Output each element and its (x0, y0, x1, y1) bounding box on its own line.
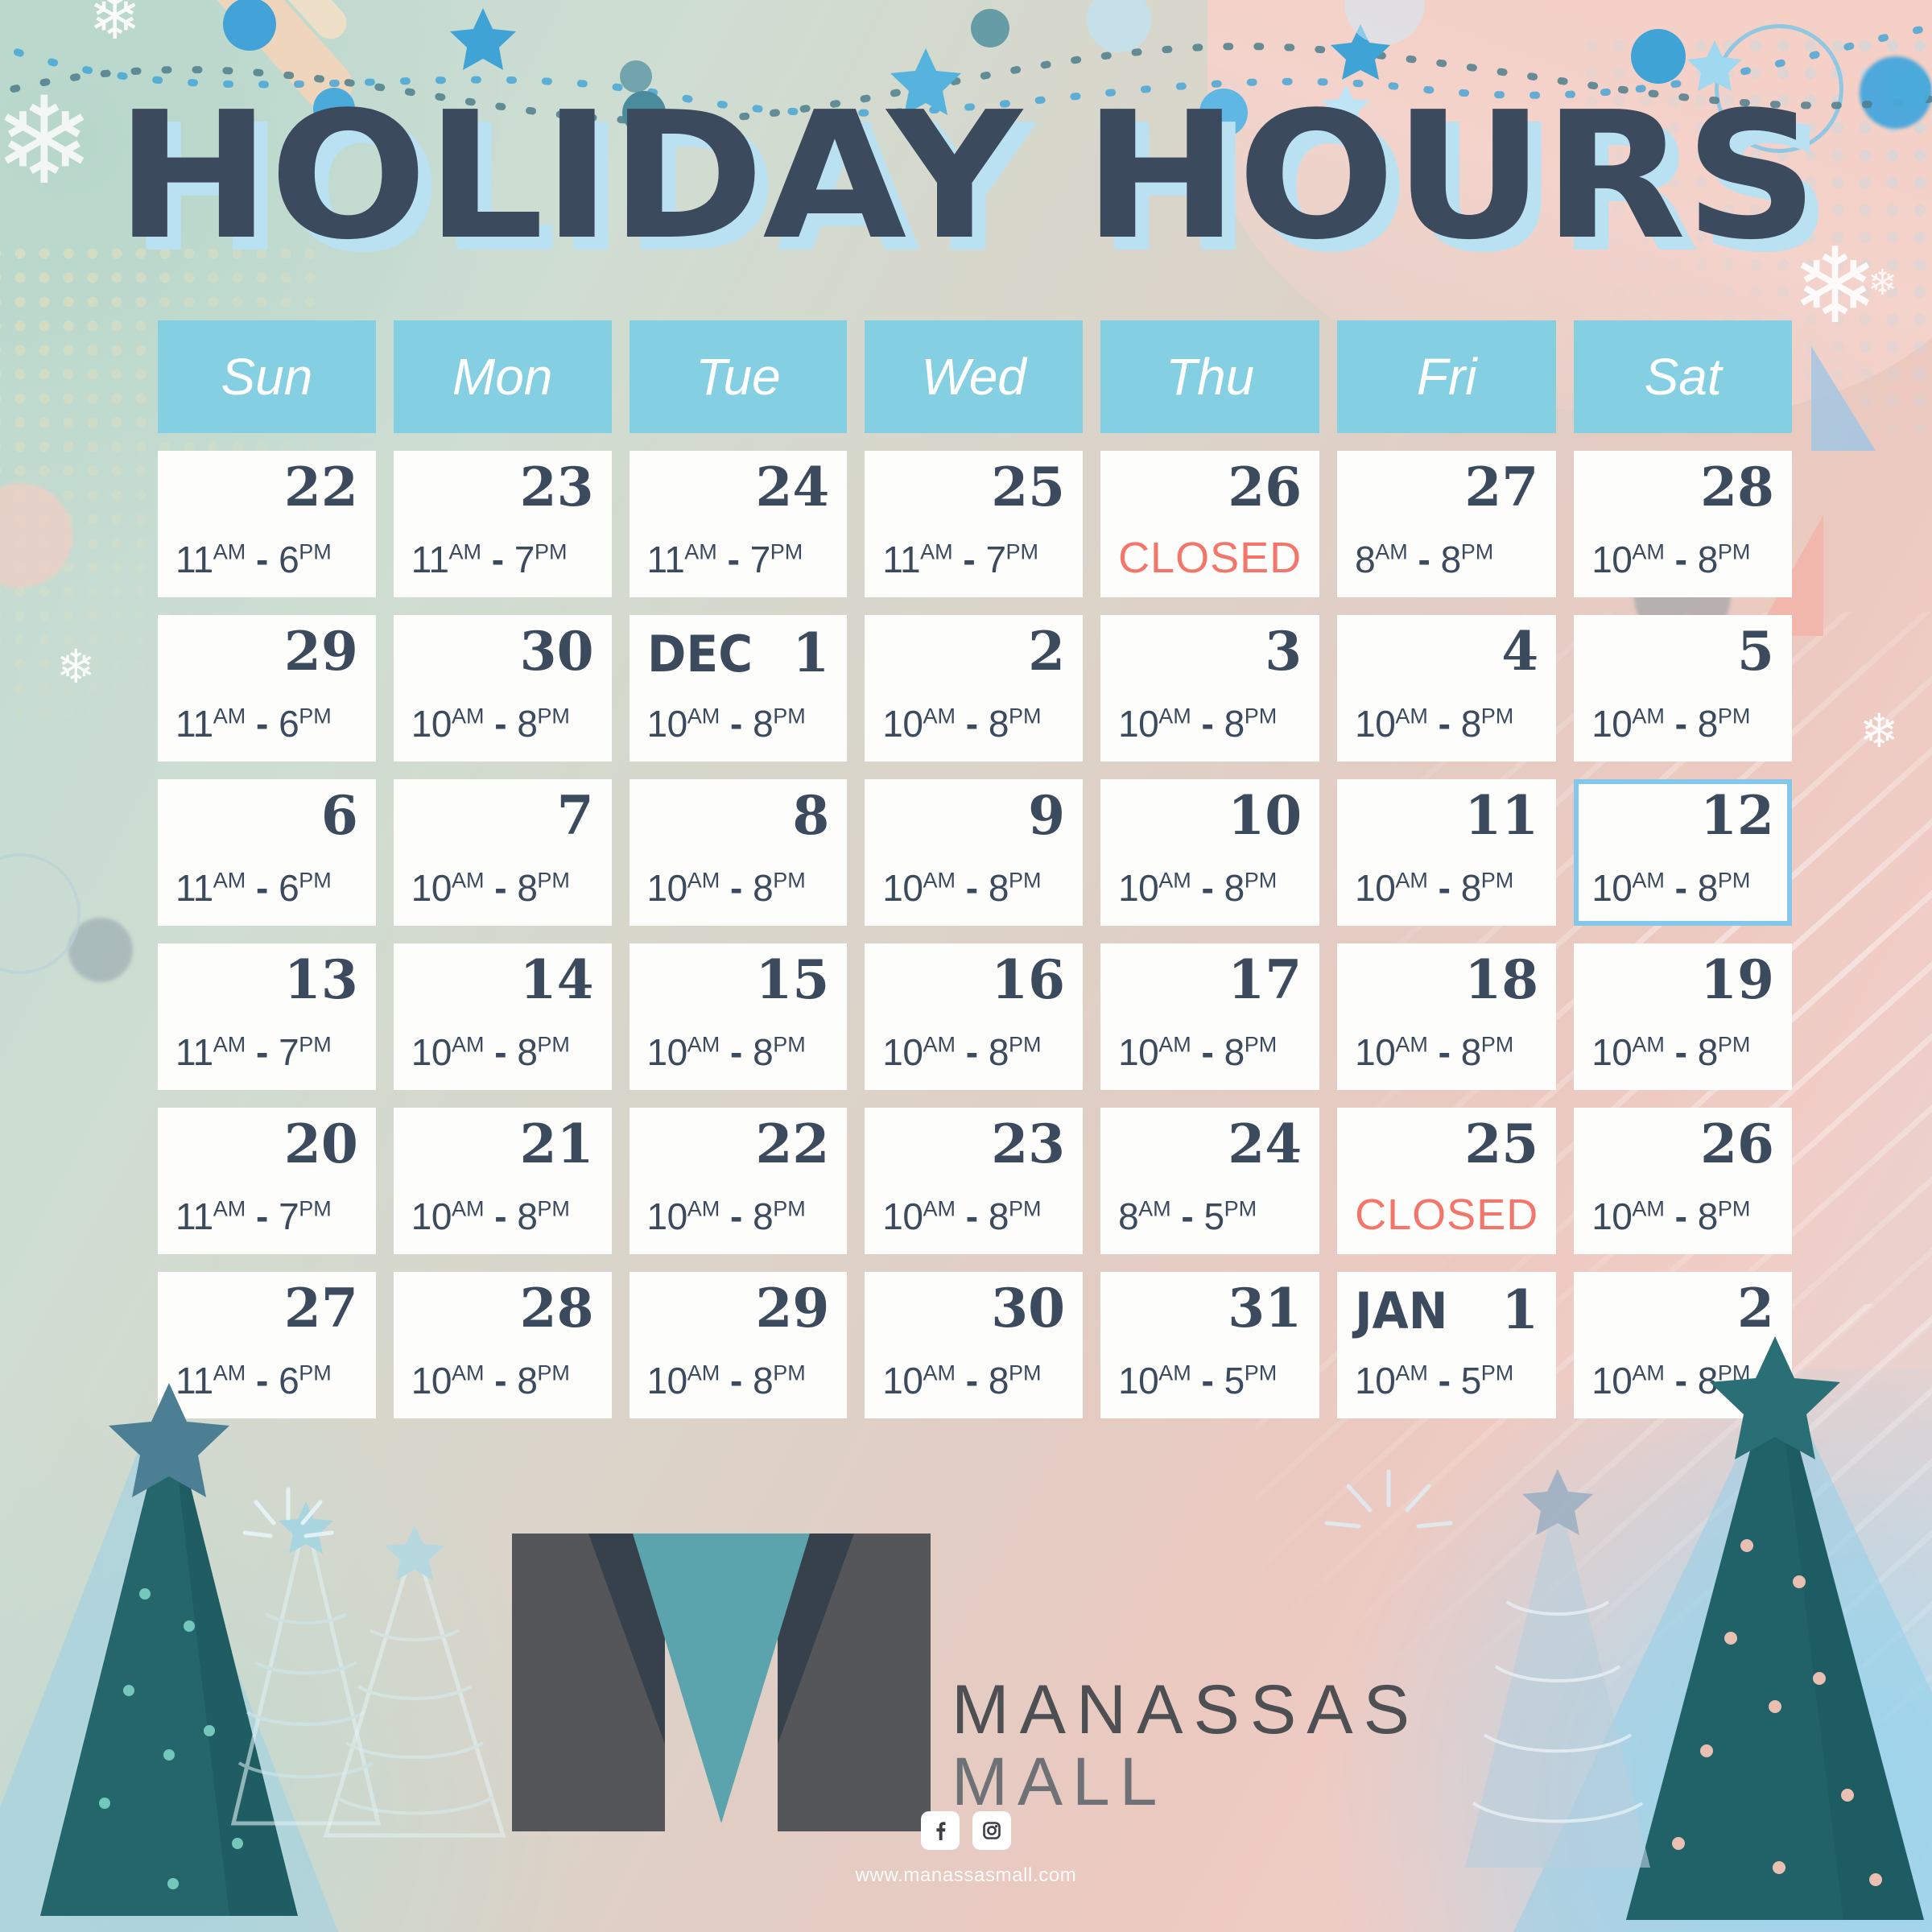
calendar-day-cell[interactable]: 2810AM - 8PM (1574, 451, 1792, 597)
open-meridiem: AM (213, 540, 246, 564)
calendar-cell-header: 21 (411, 1117, 594, 1180)
calendar-day-cell[interactable]: 3010AM - 8PM (865, 1272, 1083, 1418)
close-meridiem: PM (299, 540, 332, 564)
brand-name: MANASSAS (952, 1675, 1420, 1746)
calendar-cell-header: 27 (1355, 460, 1538, 523)
close-meridiem: PM (1245, 869, 1278, 893)
open-meridiem: AM (452, 1197, 485, 1221)
dow-header-wed: Wed (865, 320, 1083, 433)
close-meridiem: PM (1481, 704, 1514, 729)
close-meridiem: PM (1718, 869, 1751, 893)
calendar-cell-header: 30 (411, 625, 594, 687)
open-meridiem: AM (1632, 1197, 1665, 1221)
calendar-cell-header: 18 (1355, 953, 1538, 1016)
store-hours: 10AM - 8PM (882, 1359, 1065, 1407)
store-hours: 10AM - 8PM (411, 866, 594, 914)
calendar-day-cell[interactable]: 2210AM - 8PM (630, 1108, 848, 1254)
time-separator: - (481, 539, 514, 580)
day-number: 12 (1700, 789, 1774, 842)
calendar-cell-header: 28 (411, 1282, 594, 1344)
close-meridiem: PM (773, 1197, 806, 1221)
time-separator: - (956, 1031, 989, 1073)
open-time: 10 (1591, 867, 1632, 909)
time-separator: - (956, 1195, 989, 1237)
day-number: 13 (284, 953, 358, 1006)
close-time: 6 (279, 867, 299, 909)
close-time: 8 (1224, 867, 1245, 909)
store-hours: 10AM - 8PM (647, 1195, 830, 1243)
calendar-day-cell[interactable]: 2110AM - 8PM (394, 1108, 612, 1254)
brand-subname: MALL (952, 1746, 1420, 1817)
close-time: 8 (989, 1195, 1009, 1237)
close-time: 8 (1461, 703, 1481, 745)
day-number: 11 (1464, 789, 1538, 842)
store-hours: 10AM - 8PM (647, 866, 830, 914)
close-time: 8 (753, 1031, 773, 1073)
manassas-mall-m-logo-icon (512, 1534, 931, 1831)
time-separator: - (956, 1360, 989, 1402)
calendar-cell-header: 2 (882, 625, 1065, 687)
store-hours: 10AM - 8PM (882, 1030, 1065, 1079)
open-meridiem: AM (687, 869, 720, 893)
day-number: 31 (1228, 1282, 1302, 1335)
store-hours: 10AM - 8PM (647, 1359, 830, 1407)
store-hours: 10AM - 8PM (411, 1195, 594, 1243)
calendar-day-cell[interactable]: 248AM - 5PM (1100, 1108, 1319, 1254)
calendar-day-cell[interactable]: 2511AM - 7PM (865, 451, 1083, 597)
facebook-icon[interactable] (921, 1811, 960, 1850)
time-separator: - (720, 703, 753, 745)
page-title-container: HOLIDAY HOURS (0, 97, 1932, 258)
calendar-cell-header: 24 (1118, 1117, 1302, 1180)
close-meridiem: PM (1718, 1033, 1751, 1057)
open-time: 11 (411, 539, 449, 580)
time-separator: - (1665, 703, 1698, 745)
time-separator: - (1171, 1195, 1204, 1237)
close-time: 8 (1698, 867, 1718, 909)
calendar-cell-header: DEC1 (647, 625, 830, 687)
close-time: 6 (279, 703, 299, 745)
day-number: 9 (1028, 789, 1065, 842)
open-meridiem: AM (923, 1361, 956, 1385)
open-time: 10 (882, 1360, 923, 1402)
calendar-cell-header: 10 (1118, 789, 1302, 852)
close-meridiem: PM (535, 540, 568, 564)
close-time: 8 (1698, 1031, 1718, 1073)
close-time: 8 (1441, 539, 1461, 580)
close-meridiem: PM (773, 869, 806, 893)
open-time: 11 (647, 539, 685, 580)
calendar-day-cell[interactable]: 1710AM - 8PM (1100, 943, 1319, 1090)
open-meridiem: AM (1395, 704, 1428, 729)
open-time: 10 (882, 867, 923, 909)
day-number: 10 (1228, 789, 1302, 842)
close-meridiem: PM (1009, 1033, 1042, 1057)
day-number: 19 (1700, 953, 1774, 1006)
close-meridiem: PM (537, 1197, 570, 1221)
time-separator: - (720, 1031, 753, 1073)
store-hours: 11AM - 6PM (175, 866, 358, 914)
store-hours: 10AM - 8PM (1118, 702, 1302, 750)
open-time: 11 (175, 1195, 213, 1237)
close-time: 8 (753, 1360, 773, 1402)
store-hours: 11AM - 7PM (175, 1030, 358, 1079)
open-meridiem: AM (213, 869, 246, 893)
store-hours: 10AM - 8PM (647, 702, 830, 750)
store-hours: 10AM - 8PM (411, 1359, 594, 1407)
time-separator: - (1665, 1195, 1698, 1237)
time-separator: - (246, 1195, 279, 1237)
store-hours: 10AM - 8PM (1591, 1195, 1774, 1243)
close-meridiem: PM (773, 1361, 806, 1385)
calendar-cell-header: 15 (647, 953, 830, 1016)
open-time: 8 (1355, 539, 1375, 580)
time-separator: - (956, 703, 989, 745)
close-meridiem: PM (1009, 704, 1042, 729)
close-time: 8 (517, 1195, 537, 1237)
open-meridiem: AM (1375, 540, 1408, 564)
snowflake-icon: ❄ (1860, 708, 1899, 755)
calendar-day-cell[interactable]: JAN110AM - 5PM (1337, 1272, 1556, 1418)
day-number: 1 (1501, 1283, 1538, 1336)
close-time: 7 (750, 539, 770, 580)
open-time: 10 (411, 867, 452, 909)
close-meridiem: PM (773, 1033, 806, 1057)
calendar-cell-header: 26 (1591, 1117, 1774, 1180)
calendar-cell-header: 4 (1355, 625, 1538, 687)
open-time: 10 (411, 1360, 452, 1402)
instagram-icon[interactable] (972, 1811, 1011, 1850)
calendar-cell-header: 29 (175, 625, 358, 687)
calendar-cell-header: 12 (1591, 789, 1774, 852)
store-hours: 10AM - 8PM (1118, 866, 1302, 914)
store-hours: 10AM - 8PM (1355, 702, 1538, 750)
calendar-cell-header: 13 (175, 953, 358, 1016)
day-number: 17 (1228, 953, 1302, 1006)
month-label: DEC (647, 625, 753, 683)
day-number: 22 (284, 460, 358, 514)
calendar-cell-header: 25 (882, 460, 1065, 523)
store-hours: 10AM - 8PM (1355, 1030, 1538, 1079)
calendar-day-cell[interactable]: 2310AM - 8PM (865, 1108, 1083, 1254)
open-meridiem: AM (213, 1033, 246, 1057)
close-meridiem: PM (1009, 869, 1042, 893)
time-separator: - (246, 867, 279, 909)
snowflake-icon: ❄ (1868, 266, 1897, 301)
open-time: 10 (1591, 539, 1632, 580)
calendar-day-cell[interactable]: 2011AM - 7PM (158, 1108, 376, 1254)
close-time: 8 (753, 867, 773, 909)
open-time: 10 (647, 1360, 687, 1402)
close-time: 8 (1698, 703, 1718, 745)
calendar-day-cell[interactable]: 1110AM - 8PM (1337, 779, 1556, 926)
close-meridiem: PM (299, 869, 332, 893)
day-number: 25 (1464, 1117, 1538, 1170)
dow-header-sun: Sun (158, 320, 376, 433)
open-meridiem: AM (1158, 704, 1191, 729)
day-number: 27 (1464, 460, 1538, 514)
store-hours: 10AM - 8PM (1118, 1030, 1302, 1079)
close-meridiem: PM (1224, 1197, 1257, 1221)
close-meridiem: PM (1481, 1033, 1514, 1057)
time-separator: - (956, 867, 989, 909)
close-time: 8 (517, 867, 537, 909)
close-time: 8 (1698, 1195, 1718, 1237)
calendar-day-cell[interactable]: 2411AM - 7PM (630, 451, 848, 597)
day-number: 20 (284, 1117, 358, 1170)
close-time: 7 (985, 539, 1005, 580)
open-time: 10 (1591, 703, 1632, 745)
calendar-day-cell[interactable]: 910AM - 8PM (865, 779, 1083, 926)
close-time: 8 (1461, 1031, 1481, 1073)
close-time: 8 (989, 703, 1009, 745)
calendar-day-cell[interactable]: 3010AM - 8PM (394, 615, 612, 762)
close-time: 8 (989, 867, 1009, 909)
open-time: 10 (411, 1031, 452, 1073)
dow-header-sat: Sat (1574, 320, 1792, 433)
close-meridiem: PM (537, 1033, 570, 1057)
time-separator: - (1665, 867, 1698, 909)
close-meridiem: PM (1245, 1033, 1278, 1057)
calendar-cell-header: 11 (1355, 789, 1538, 852)
calendar-day-cell[interactable]: 611AM - 6PM (158, 779, 376, 926)
holiday-hours-poster: ❄ ❄ ❄ ❄ ❄ ❄ ❄ HOLIDAY HOURS Sun Mon Tue … (0, 0, 1932, 1932)
close-meridiem: PM (770, 540, 803, 564)
calendar-day-cell[interactable]: 510AM - 8PM (1574, 615, 1792, 762)
open-time: 11 (175, 703, 213, 745)
time-separator: - (484, 867, 517, 909)
calendar-day-cell[interactable]: 310AM - 8PM (1100, 615, 1319, 762)
store-hours: 11AM - 6PM (175, 702, 358, 750)
calendar-day-cell[interactable]: 2911AM - 6PM (158, 615, 376, 762)
calendar-day-cell[interactable]: 3110AM - 5PM (1100, 1272, 1319, 1418)
day-number: 22 (755, 1117, 829, 1170)
calendar-day-cell[interactable]: 2211AM - 6PM (158, 451, 376, 597)
calendar-day-cell[interactable]: 1610AM - 8PM (865, 943, 1083, 1090)
open-time: 10 (411, 703, 452, 745)
day-number: 23 (520, 460, 594, 514)
calendar-day-cell[interactable]: 810AM - 8PM (630, 779, 848, 926)
time-separator: - (720, 867, 753, 909)
close-meridiem: PM (1718, 540, 1751, 564)
day-number: 14 (520, 953, 594, 1006)
close-meridiem: PM (1718, 704, 1751, 729)
calendar-day-cell[interactable]: 1510AM - 8PM (630, 943, 848, 1090)
calendar-cell-header: 23 (882, 1117, 1065, 1180)
calendar-cell-header: 14 (411, 953, 594, 1016)
calendar-cell-header: 24 (647, 460, 830, 523)
calendar-cell-header: JAN1 (1355, 1282, 1538, 1344)
open-time: 8 (1118, 1195, 1138, 1237)
calendar-cell-header: 16 (882, 953, 1065, 1016)
calendar-cell-header: 31 (1118, 1282, 1302, 1344)
close-meridiem: PM (1245, 1361, 1278, 1385)
calendar-cell-header: 17 (1118, 953, 1302, 1016)
open-time: 11 (175, 867, 213, 909)
time-separator: - (484, 1031, 517, 1073)
close-time: 5 (1224, 1360, 1245, 1402)
open-meridiem: AM (923, 704, 956, 729)
open-meridiem: AM (452, 704, 485, 729)
open-time: 10 (1118, 867, 1158, 909)
close-meridiem: PM (299, 1033, 332, 1057)
close-time: 7 (279, 1031, 299, 1073)
time-separator: - (1191, 1031, 1224, 1073)
open-meridiem: AM (923, 869, 956, 893)
day-number: 21 (520, 1117, 594, 1170)
close-time: 8 (753, 703, 773, 745)
time-separator: - (717, 539, 750, 580)
calendar-cell-header: 30 (882, 1282, 1065, 1344)
day-number: 29 (755, 1282, 829, 1335)
calendar-day-cell[interactable]: 278AM - 8PM (1337, 451, 1556, 597)
day-number: 28 (520, 1282, 594, 1335)
open-time: 10 (1591, 1031, 1632, 1073)
day-number: 15 (755, 953, 829, 1006)
open-meridiem: AM (1632, 540, 1665, 564)
day-number: 25 (991, 460, 1065, 514)
calendar-day-cell[interactable]: 25CLOSED (1337, 1108, 1556, 1254)
day-number: 8 (792, 789, 829, 842)
open-meridiem: AM (452, 1361, 485, 1385)
calendar-day-cell[interactable]: 1910AM - 8PM (1574, 943, 1792, 1090)
calendar-day-cell[interactable]: 1410AM - 8PM (394, 943, 612, 1090)
time-separator: - (484, 1195, 517, 1237)
calendar-day-cell[interactable]: 2610AM - 8PM (1574, 1108, 1792, 1254)
close-meridiem: PM (299, 1197, 332, 1221)
calendar-cell-header: 7 (411, 789, 594, 852)
calendar-day-cell[interactable]: 1810AM - 8PM (1337, 943, 1556, 1090)
close-time: 6 (279, 539, 299, 580)
open-time: 10 (1118, 1360, 1158, 1402)
store-hours: 10AM - 8PM (882, 866, 1065, 914)
day-number: 18 (1464, 953, 1538, 1006)
time-separator: - (1665, 1031, 1698, 1073)
close-time: 8 (517, 1031, 537, 1073)
dow-header-tue: Tue (630, 320, 848, 433)
time-separator: - (1665, 539, 1698, 580)
calendar-cell-header: 28 (1591, 460, 1774, 523)
snowflake-icon: ❄ (56, 644, 96, 691)
close-meridiem: PM (537, 869, 570, 893)
day-number: 30 (520, 625, 594, 678)
day-number: 24 (1228, 1117, 1302, 1170)
calendar-day-cell[interactable]: DEC110AM - 8PM (630, 615, 848, 762)
open-meridiem: AM (923, 1033, 956, 1057)
open-meridiem: AM (1158, 1361, 1191, 1385)
day-number: 1 (792, 626, 829, 679)
calendar-day-cell[interactable]: 710AM - 8PM (394, 779, 612, 926)
close-time: 8 (517, 703, 537, 745)
time-separator: - (1428, 1360, 1461, 1402)
website-url: www.manassasmall.com (0, 1864, 1932, 1887)
calendar-day-cell[interactable]: 2810AM - 8PM (394, 1272, 612, 1418)
calendar-cell-header: 19 (1591, 953, 1774, 1016)
facebook-glyph (930, 1820, 951, 1841)
calendar-day-cell[interactable]: 410AM - 8PM (1337, 615, 1556, 762)
open-meridiem: AM (1632, 869, 1665, 893)
store-hours: 10AM - 8PM (1591, 538, 1774, 586)
day-number: 6 (321, 789, 358, 842)
open-meridiem: AM (449, 540, 482, 564)
store-hours: 10AM - 5PM (1118, 1359, 1302, 1407)
store-hours: 10AM - 8PM (1591, 1030, 1774, 1079)
bg-shard-blue (1811, 346, 1876, 451)
close-time: 5 (1461, 1360, 1481, 1402)
calendar-day-cell[interactable]: 2311AM - 7PM (394, 451, 612, 597)
open-time: 10 (1118, 1031, 1158, 1073)
open-time: 10 (1591, 1195, 1632, 1237)
calendar-cell-header: 8 (647, 789, 830, 852)
open-meridiem: AM (687, 1361, 720, 1385)
close-time: 8 (989, 1031, 1009, 1073)
store-hours: 11AM - 6PM (175, 538, 358, 586)
day-number: 26 (1228, 460, 1302, 514)
time-separator: - (484, 1360, 517, 1402)
close-time: 8 (1224, 703, 1245, 745)
calendar-day-cell[interactable]: 1311AM - 7PM (158, 943, 376, 1090)
close-meridiem: PM (1718, 1197, 1751, 1221)
store-hours: 10AM - 8PM (882, 702, 1065, 750)
close-meridiem: PM (1481, 1361, 1514, 1385)
time-separator: - (1428, 703, 1461, 745)
close-meridiem: PM (1481, 869, 1514, 893)
day-number: 4 (1501, 625, 1538, 678)
close-meridiem: PM (773, 704, 806, 729)
calendar-day-cell[interactable]: 26CLOSED (1100, 451, 1319, 597)
close-meridiem: PM (299, 704, 332, 729)
open-meridiem: AM (1158, 1033, 1191, 1057)
calendar-day-cell[interactable]: 210AM - 8PM (865, 615, 1083, 762)
instagram-glyph (981, 1820, 1002, 1841)
open-time: 11 (882, 539, 920, 580)
day-number: 29 (284, 625, 358, 678)
calendar-day-cell[interactable]: 1210AM - 8PM (1574, 779, 1792, 926)
time-separator: - (720, 1195, 753, 1237)
open-time: 10 (647, 1031, 687, 1073)
time-separator: - (1428, 867, 1461, 909)
closed-label: CLOSED (1355, 1190, 1538, 1243)
calendar-cell-header: 6 (175, 789, 358, 852)
close-time: 7 (514, 539, 535, 580)
brand-logo-block: MANASSAS MALL (0, 1534, 1932, 1835)
store-hours: 8AM - 5PM (1118, 1195, 1302, 1243)
calendar-cell-header: 9 (882, 789, 1065, 852)
calendar-cell-header: 27 (175, 1282, 358, 1344)
calendar-cell-header: 22 (175, 460, 358, 523)
calendar-cell-header: 23 (411, 460, 594, 523)
day-number: 30 (991, 1282, 1065, 1335)
open-time: 11 (175, 539, 213, 580)
day-number: 5 (1737, 625, 1774, 678)
open-time: 10 (1355, 1360, 1395, 1402)
close-time: 8 (989, 1360, 1009, 1402)
open-meridiem: AM (213, 1197, 246, 1221)
calendar-day-cell[interactable]: 2910AM - 8PM (630, 1272, 848, 1418)
open-meridiem: AM (452, 1033, 485, 1057)
calendar-day-cell[interactable]: 1010AM - 8PM (1100, 779, 1319, 926)
close-meridiem: PM (1461, 540, 1494, 564)
day-number: 23 (991, 1117, 1065, 1170)
calendar-cell-header: 26 (1118, 460, 1302, 523)
holiday-hours-calendar: Sun Mon Tue Wed Thu Fri Sat 2211AM - 6PM… (158, 320, 1792, 1418)
day-number: 2 (1028, 625, 1065, 678)
day-number: 24 (755, 460, 829, 514)
open-time: 10 (1355, 703, 1395, 745)
store-hours: 11AM - 7PM (411, 538, 594, 586)
open-meridiem: AM (213, 704, 246, 729)
open-time: 10 (882, 1195, 923, 1237)
